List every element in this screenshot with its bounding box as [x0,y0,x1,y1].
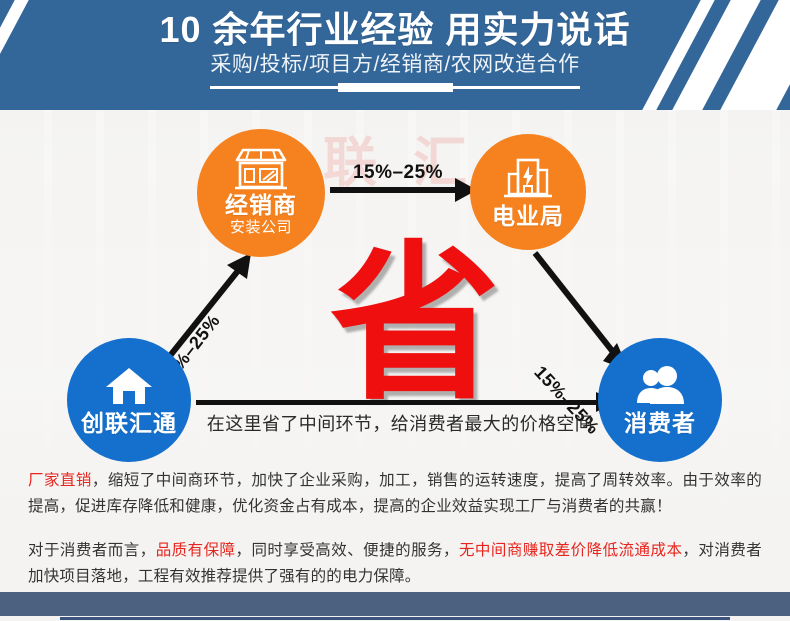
arrow-brand-to-consumer-label: 在这里省了中间环节，给消费者最大的价格空间 [170,410,630,436]
node-consumer-label: 消费者 [624,410,696,436]
paragraph-2-highlight-2: 无中间商赚取差价降低流通成本 [459,542,682,559]
header-title: 10 余年行业经验 用实力说话 [159,8,630,52]
big-save-character: 省 [330,240,490,410]
paragraph-2-mid: ，同时享受高效、便捷的服务， [236,542,459,559]
power-building-icon [502,156,554,200]
node-consumer[interactable]: 消费者 [598,338,722,462]
header-banner: 10 余年行业经验 用实力说话 采购/投标/项目方/经销商/农网改造合作 [0,0,790,110]
paragraph-1-text: ，缩短了中间商环节，加快了企业采购，加工，销售的运转速度，提高了周转效率。由于效… [28,472,762,515]
node-power-bureau-label: 电业局 [492,203,564,229]
arrow-dealer-to-power-line [330,187,460,193]
description-block: 厂家直销，缩短了中间商环节，加快了企业采购，加工，销售的运转速度，提高了周转效率… [0,468,790,590]
paragraph-2-highlight-1: 品质有保障 [156,542,236,559]
paragraph-2: 对于消费者而言，品质有保障，同时享受高效、便捷的服务，无中间商赚取差价降低流通成… [28,538,762,590]
paragraph-1-highlight: 厂家直销 [28,472,92,489]
shop-icon [233,148,289,190]
arrow-dealer-to-power-label: 15%–25% [338,162,458,184]
node-brand[interactable]: 创联汇通 [67,338,191,462]
users-icon [634,365,686,407]
house-icon [104,365,154,407]
header-subtitle: 采购/投标/项目方/经销商/农网改造合作 [210,51,579,79]
footer-bar [0,592,790,616]
node-dealer[interactable]: 经销商 安装公司 [197,129,325,257]
flow-diagram: 省 15%–25% 15%–25% 15%–25% 在这里省了中间环节，给消费者… [0,110,790,465]
node-dealer-sublabel: 安装公司 [230,218,292,238]
node-dealer-label: 经销商 [225,192,297,218]
header-divider [210,83,580,92]
footer-rule [60,617,730,620]
header-divider-center [338,83,453,92]
arrow-brand-to-consumer-line [196,400,601,405]
paragraph-1: 厂家直销，缩短了中间商环节，加快了企业采购，加工，销售的运转速度，提高了周转效率… [28,468,762,520]
page-root: 10 余年行业经验 用实力说话 采购/投标/项目方/经销商/农网改造合作 创联汇… [0,0,790,621]
paragraph-2-lead: 对于消费者而言， [28,542,156,559]
header-content: 10 余年行业经验 用实力说话 采购/投标/项目方/经销商/农网改造合作 [0,0,790,110]
node-brand-label: 创联汇通 [81,410,177,436]
node-power-bureau[interactable]: 电业局 [470,134,586,250]
